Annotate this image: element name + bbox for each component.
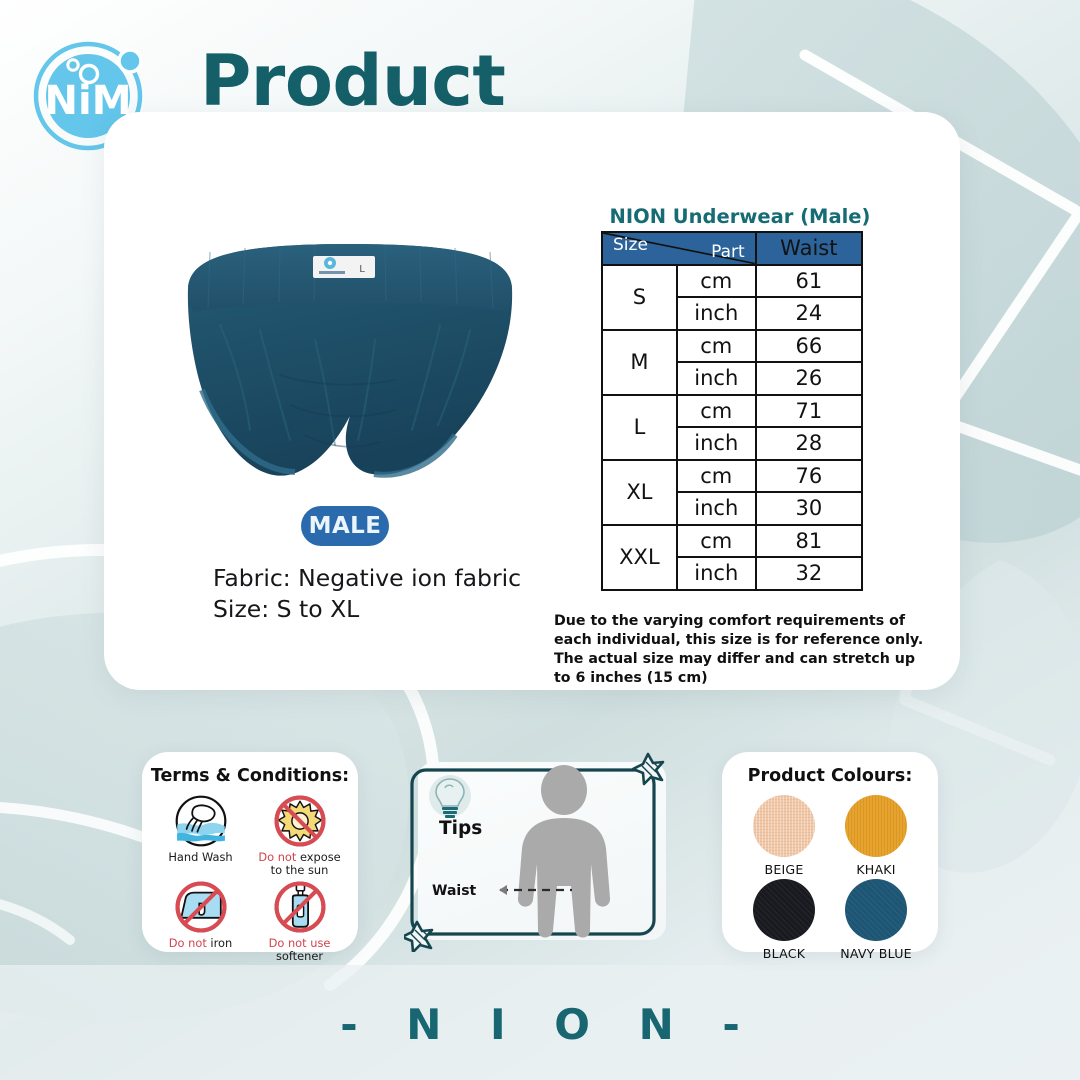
colour-label: KHAKI — [856, 862, 895, 877]
size-disclaimer: Due to the varying comfort requirements … — [554, 612, 926, 688]
colour-item-navy-blue: NAVY BLUE — [832, 879, 920, 961]
lightbulb-icon — [429, 775, 471, 818]
care-label-rest: Hand Wash — [168, 850, 232, 864]
no-iron-icon — [174, 880, 228, 934]
row-unit-inch: inch — [677, 427, 756, 460]
care-label-tag: L — [313, 256, 375, 278]
colour-label: NAVY BLUE — [840, 946, 912, 961]
care-label: Hand Wash — [168, 851, 232, 864]
row-size: L — [602, 395, 677, 460]
table-header-row: Part Size Waist — [602, 232, 862, 265]
care-item-no-softener: Do not use softener — [251, 880, 348, 964]
row-size: XXL — [602, 525, 677, 590]
colour-item-black: BLACK — [740, 879, 828, 961]
row-unit-inch: inch — [677, 492, 756, 525]
row-waist-inch: 26 — [756, 362, 862, 395]
row-waist-cm: 71 — [756, 395, 862, 428]
care-label-red: Do not use — [269, 936, 331, 950]
row-size: S — [602, 265, 677, 330]
care-label: Do not iron — [169, 937, 232, 950]
svg-text:L: L — [359, 264, 365, 275]
row-waist-cm: 61 — [756, 265, 862, 298]
row-unit-cm: cm — [677, 395, 756, 428]
care-label: Do not use softener — [251, 937, 348, 964]
care-item-hand-wash: Hand Wash — [152, 794, 249, 878]
tips-panel: Tips Waist — [404, 752, 680, 952]
colour-label: BLACK — [763, 946, 805, 961]
row-waist-cm: 66 — [756, 330, 862, 363]
row-unit-cm: cm — [677, 525, 756, 558]
care-label-rest: softener — [276, 949, 323, 963]
colour-swatch-grid: BEIGE KHAKI BLACK NAVY BLUE — [722, 795, 938, 961]
product-image: L — [150, 230, 550, 510]
row-waist-inch: 24 — [756, 297, 862, 330]
tips-label: Tips — [439, 818, 482, 839]
row-unit-inch: inch — [677, 297, 756, 330]
colours-heading: Product Colours: — [722, 766, 938, 786]
swatch-beige — [753, 795, 815, 857]
logo-text: NiM — [45, 78, 132, 124]
care-label-rest: iron — [210, 936, 232, 950]
star-decoration-top-icon — [633, 754, 663, 784]
row-waist-cm: 76 — [756, 460, 862, 493]
fabric-line: Fabric: Negative ion fabric — [213, 563, 633, 594]
no-softener-icon — [273, 880, 327, 934]
table-row: XXL cm 81 — [602, 525, 862, 558]
colour-item-khaki: KHAKI — [832, 795, 920, 877]
size-table-title: NION Underwear (Male) — [600, 205, 880, 228]
row-unit-cm: cm — [677, 265, 756, 298]
gender-badge: MALE — [301, 506, 389, 546]
row-size: M — [602, 330, 677, 395]
waist-measure-line — [499, 885, 572, 895]
row-size: XL — [602, 460, 677, 525]
header-part-label: Part — [711, 242, 745, 262]
tips-graphics — [404, 752, 680, 952]
header-corner-cell: Part Size — [602, 232, 756, 265]
row-waist-inch: 28 — [756, 427, 862, 460]
table-row: S cm 61 — [602, 265, 862, 298]
swatch-navy-blue — [845, 879, 907, 941]
row-waist-cm: 81 — [756, 525, 862, 558]
row-unit-inch: inch — [677, 557, 756, 590]
row-unit-cm: cm — [677, 330, 756, 363]
footer-brand: - N I O N - — [0, 1000, 1080, 1049]
row-waist-inch: 30 — [756, 492, 862, 525]
care-label-red: Do not — [258, 850, 300, 864]
waist-label: Waist — [432, 883, 476, 899]
header-size-label: Size — [613, 235, 648, 255]
care-label-red: Do not — [169, 936, 211, 950]
row-unit-cm: cm — [677, 460, 756, 493]
header-waist-label: Waist — [756, 232, 862, 265]
row-unit-inch: inch — [677, 362, 756, 395]
care-label: Do not expose to the sun — [251, 851, 348, 878]
infographic-page: NiM Product Specifications — [0, 0, 1080, 1080]
care-item-no-sun: Do not expose to the sun — [251, 794, 348, 878]
size-table: Part Size Waist S cm 61 inch 24 M cm 66 … — [601, 231, 863, 591]
swatch-khaki — [845, 795, 907, 857]
swatch-black — [753, 879, 815, 941]
terms-panel: Terms & Conditions: Hand Wash — [142, 752, 358, 952]
colour-item-beige: BEIGE — [740, 795, 828, 877]
care-icons-grid: Hand Wash Do not expose to the sun — [142, 794, 358, 964]
care-item-no-iron: Do not iron — [152, 880, 249, 964]
hand-wash-icon — [174, 794, 228, 848]
table-row: L cm 71 — [602, 395, 862, 428]
table-row: M cm 66 — [602, 330, 862, 363]
body-silhouette-icon — [518, 765, 610, 938]
star-decoration-bottom-icon — [404, 922, 432, 952]
colour-label: BEIGE — [764, 862, 803, 877]
row-waist-inch: 32 — [756, 557, 862, 590]
table-row: XL cm 76 — [602, 460, 862, 493]
terms-heading: Terms & Conditions: — [142, 766, 358, 786]
colours-panel: Product Colours: BEIGE KHAKI BLACK NAVY … — [722, 752, 938, 952]
no-sun-icon — [273, 794, 327, 848]
